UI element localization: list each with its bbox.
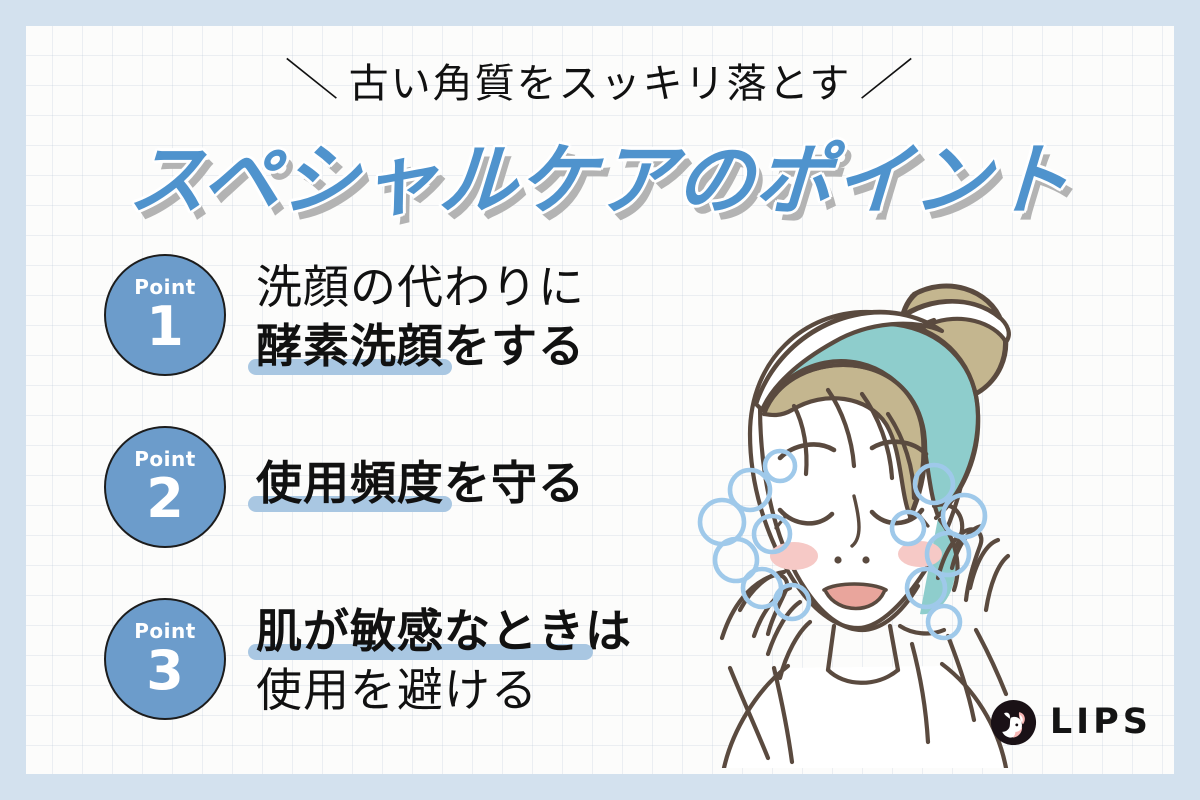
point-badge-circle: Point 1 [104,254,226,376]
point-badge-label: Point [134,277,196,297]
illustration-svg [676,238,1056,768]
slash-right-icon: ／ [843,44,933,108]
poster-canvas: ＼古い角質をスッキリ落とす／ スペシャルケアのポイント Point 1 洗顔の代… [0,0,1200,800]
subtitle: ＼古い角質をスッキリ落とす／ [26,46,1174,110]
point-line: 酵素洗顔をする [256,317,585,376]
subtitle-text: 古い角質をスッキリ落とす [349,61,852,106]
point-badge-circle: Point 2 [104,426,226,548]
speech-bubble-tail-icon [199,339,231,370]
point-item-2: Point 2 使用頻度を守る [104,426,585,548]
point-text-2: 使用頻度を守る [256,426,585,513]
point-segment: 使用を避ける [256,663,538,717]
point-badge-circle: Point 3 [104,598,226,720]
lips-deer-mark-icon [990,699,1037,746]
point-text-3: 肌が敏感なときは 使用を避ける [256,598,632,720]
point-item-3: Point 3 肌が敏感なときは 使用を避ける [104,598,632,720]
point-badge-label: Point [134,621,196,641]
woman-washing-face-illustration [676,238,1056,768]
point-badge-number: 1 [146,300,184,354]
point-badge-number: 3 [146,644,184,698]
point-item-1: Point 1 洗顔の代わりに 酵素洗顔をする [104,254,585,376]
point-segment: を守る [444,456,585,510]
point-badge-3: Point 3 [104,598,226,720]
point-segment-highlighted: 肌が敏感なとき [256,602,585,661]
point-segment-highlighted: 酵素洗顔 [256,317,444,376]
lips-logo[interactable]: LIPS [990,699,1152,746]
point-segment: をする [444,319,585,373]
speech-bubble-tail-icon [199,683,231,714]
point-text-1: 洗顔の代わりに 酵素洗顔をする [256,254,585,376]
point-segment: 洗顔の代わりに [256,260,585,314]
point-badge-2: Point 2 [104,426,226,548]
grid-paper-background: ＼古い角質をスッキリ落とす／ スペシャルケアのポイント Point 1 洗顔の代… [26,26,1174,774]
slash-left-icon: ＼ [267,44,357,108]
speech-bubble-tail-icon [199,511,231,542]
point-segment-highlighted: 使用頻度 [256,454,444,513]
point-badge-1: Point 1 [104,254,226,376]
point-line: 肌が敏感なときは [256,602,632,661]
point-badge-number: 2 [146,472,184,526]
point-line: 洗顔の代わりに [256,258,585,317]
point-line: 使用頻度を守る [256,454,585,513]
lips-wordmark: LIPS [1050,705,1152,740]
point-line: 使用を避ける [256,661,632,720]
page-title: スペシャルケアのポイント [26,118,1174,230]
point-badge-label: Point [134,449,196,469]
